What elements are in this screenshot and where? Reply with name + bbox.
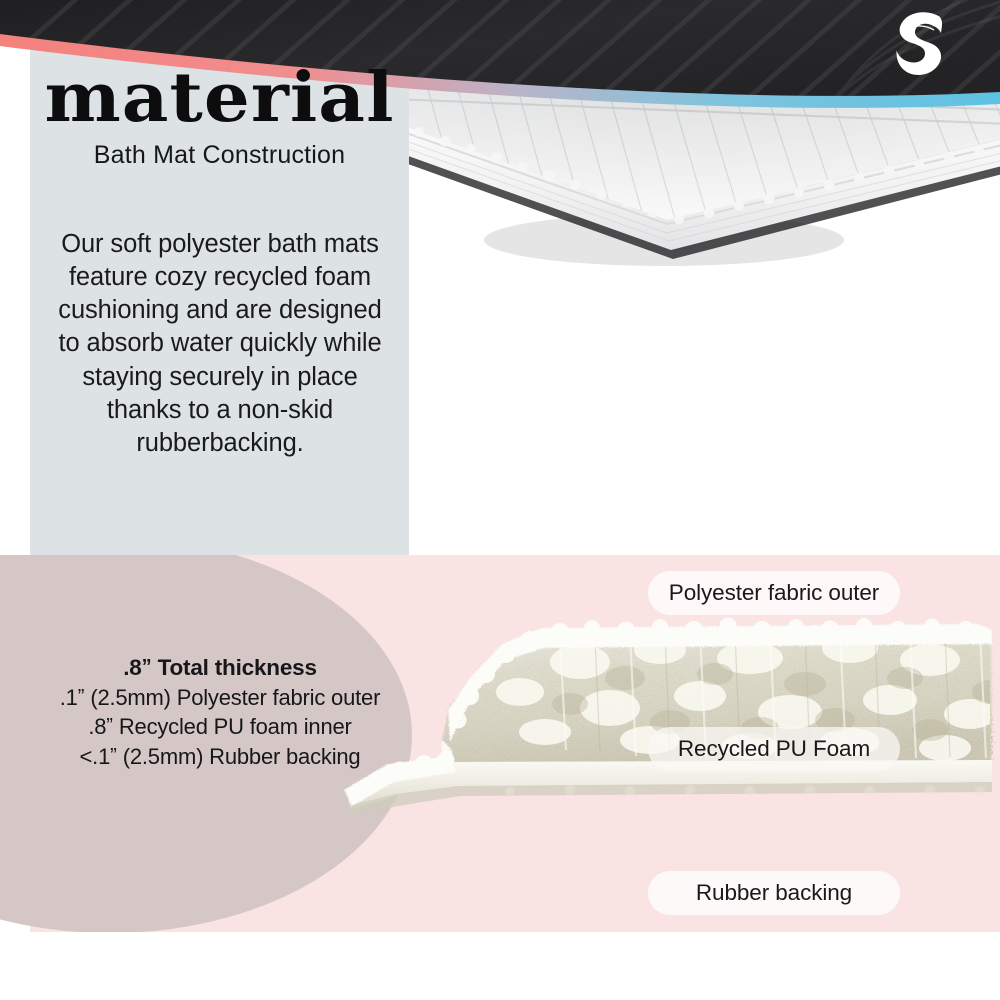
intro-line: thanks to a non-skid	[40, 394, 400, 427]
layer-metric: (2.5mm)	[123, 744, 204, 769]
layer-value: .1	[60, 685, 78, 710]
intro-line: to absorb water quickly while	[40, 327, 400, 360]
inch-mark: ”	[78, 686, 85, 708]
intro-paragraph: Our soft polyester bath mats feature coz…	[40, 228, 400, 460]
layer-label: Recycled PU foam inner	[119, 714, 352, 739]
intro-line: staying securely in place	[40, 361, 400, 394]
callout-recycled-pu-foam: Recycled PU Foam	[648, 727, 900, 771]
intro-line: Our soft polyester bath mats	[40, 228, 400, 261]
callout-label: Recycled PU Foam	[678, 736, 870, 762]
total-thickness-line: .8” Total thickness	[28, 655, 412, 681]
inch-mark: ”	[106, 715, 113, 737]
thickness-spec-block: .8” Total thickness .1” (2.5mm) Polyeste…	[28, 655, 412, 771]
callout-label: Polyester fabric outer	[669, 580, 879, 606]
heading-block: material Bath Mat Construction	[30, 66, 409, 170]
layer-label: Polyester fabric outer	[177, 685, 380, 710]
callout-rubber-backing: Rubber backing	[648, 871, 900, 915]
infographic-canvas: material Bath Mat Construction Our soft …	[0, 0, 1000, 1000]
page-title: material	[19, 66, 421, 131]
layer-label: Rubber backing	[209, 744, 360, 769]
brand-logo-s-icon[interactable]	[885, 8, 951, 78]
total-thickness-label: Total thickness	[158, 655, 317, 680]
total-thickness-value: .8	[123, 655, 141, 680]
inch-mark: ”	[110, 745, 117, 767]
callout-label: Rubber backing	[696, 880, 852, 906]
layer-value: <.1	[80, 744, 111, 769]
spec-layer-row: .1” (2.5mm) Polyester fabric outer	[28, 683, 412, 712]
intro-line: rubberbacking.	[40, 427, 400, 460]
spec-layer-row: <.1” (2.5mm) Rubber backing	[28, 742, 412, 771]
inch-mark: ”	[142, 656, 152, 678]
layer-metric: (2.5mm)	[90, 685, 171, 710]
page-subtitle: Bath Mat Construction	[30, 141, 409, 170]
spec-layer-row: .8” Recycled PU foam inner	[28, 712, 412, 741]
intro-line: feature cozy recycled foam	[40, 261, 400, 294]
layer-value: .8	[88, 714, 106, 739]
intro-line: cushioning and are designed	[40, 294, 400, 327]
callout-polyester-fabric-outer: Polyester fabric outer	[648, 571, 900, 615]
